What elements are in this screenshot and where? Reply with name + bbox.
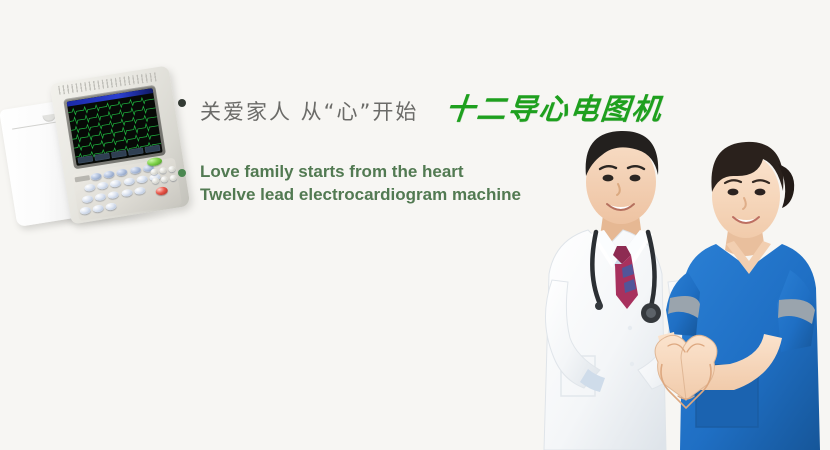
keypad-key[interactable] [105, 202, 117, 211]
arrow-key[interactable] [168, 166, 176, 173]
keypad-key[interactable] [90, 172, 102, 181]
stethoscope-earpiece [595, 302, 603, 310]
ecg-status-chip [145, 144, 161, 152]
keypad-key[interactable] [134, 187, 146, 196]
start-button[interactable] [147, 157, 163, 167]
bullet-point-icon [178, 169, 186, 177]
keypad-key[interactable] [103, 170, 115, 179]
ecg-status-chip [77, 155, 93, 163]
keypad-key[interactable] [136, 175, 148, 184]
keypad-key[interactable] [110, 179, 122, 188]
keypad-row [79, 202, 117, 215]
start-button-group [147, 157, 163, 167]
arrow-key[interactable] [152, 177, 160, 184]
ecg-machine-image [6, 72, 186, 232]
arrow-key[interactable] [159, 167, 167, 174]
device-brand-label [75, 175, 91, 182]
arrow-key[interactable] [170, 174, 178, 181]
keypad-key[interactable] [123, 177, 135, 186]
keypad-key[interactable] [95, 193, 107, 202]
coat-button [628, 326, 632, 330]
ecg-status-chip [128, 147, 144, 155]
medical-staff-photo [528, 120, 830, 450]
bullet-point-icon [178, 99, 186, 107]
doctor-eye-right [630, 175, 641, 182]
doctor-eye-left [603, 175, 614, 182]
keypad-key[interactable] [84, 183, 96, 192]
coat-button [630, 362, 634, 366]
device-screen-bezel [63, 85, 166, 170]
keypad-key[interactable] [97, 181, 109, 190]
keypad-key[interactable] [116, 168, 128, 177]
keypad-key[interactable] [129, 166, 141, 175]
product-banner: 关爱家人 从“心”开始 十二导心电图机 Love family starts f… [0, 0, 830, 450]
keypad-arrow-group [150, 166, 176, 176]
ecg-status-chip [94, 152, 110, 160]
keypad-key[interactable] [108, 191, 120, 200]
stethoscope-diaphragm [646, 308, 656, 318]
device-console-body [50, 65, 191, 224]
headline-chinese: 关爱家人 从“心”开始 [200, 96, 418, 126]
keypad-key[interactable] [82, 195, 94, 204]
subheadline-line-1: Love family starts from the heart [200, 160, 521, 183]
arrow-key[interactable] [150, 168, 158, 175]
nurse-eye-left [728, 189, 739, 196]
subheadline-line-2: Twelve lead electrocardiogram machine [200, 183, 521, 206]
keypad-key[interactable] [92, 204, 104, 213]
male-doctor [544, 131, 692, 450]
stop-button-group [155, 186, 168, 196]
keypad-key[interactable] [121, 189, 133, 198]
nurse-eye-right [755, 189, 766, 196]
stop-button[interactable] [155, 186, 168, 196]
ecg-status-chip [111, 150, 127, 158]
arrow-key[interactable] [161, 176, 169, 183]
keypad-key[interactable] [79, 206, 91, 215]
ecg-display [67, 88, 163, 166]
